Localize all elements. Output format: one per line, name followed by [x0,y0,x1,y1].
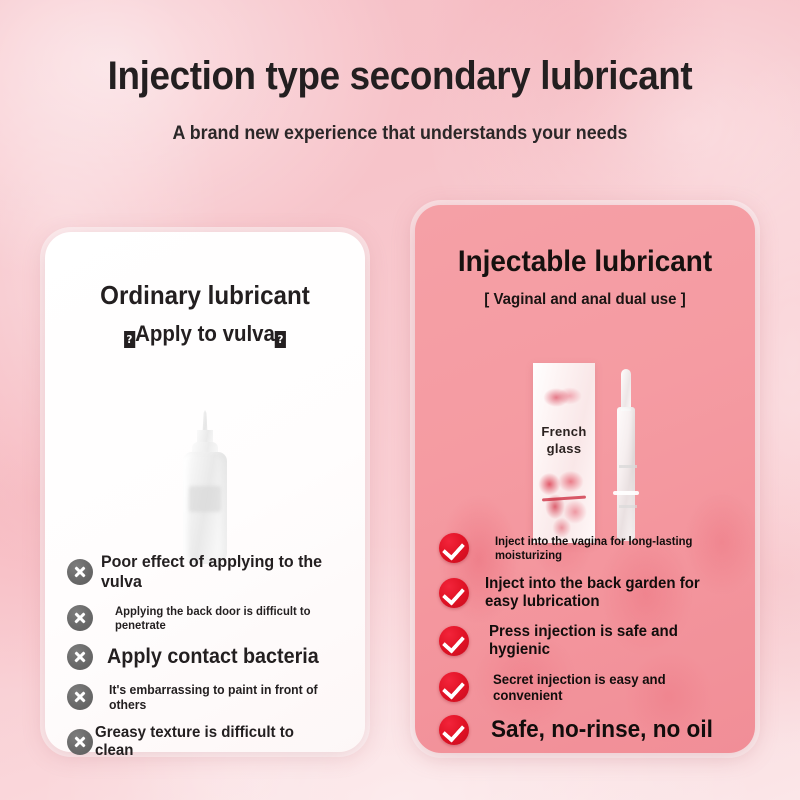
check-mark-icon [439,533,469,563]
ordinary-lubricant-card: Ordinary lubricant ?Apply to vulva? [45,232,365,752]
bottle-body [183,452,227,564]
rose-graphic-bottom [536,471,592,537]
missing-glyph-left-icon: ? [124,331,135,348]
bottle-label [189,486,221,512]
list-item-label: Secret injection is easy and convenient [493,671,720,703]
list-item-label: Inject into the vagina for long-lasting … [495,534,721,562]
x-mark-icon [67,605,93,631]
missing-glyph-right-icon: ? [275,331,286,348]
poster-header: Injection type secondary lubricant A bra… [0,0,800,145]
ordinary-lubricant-drawback-list: Poor effect of applying to the vulva App… [67,552,347,772]
injectable-lubricant-benefit-list: Inject into the vagina for long-lasting … [439,533,735,753]
sachet-brand-line-2: glass [533,440,595,457]
list-item: Press injection is safe and hygienic [439,623,735,659]
syringe-tip [621,369,631,411]
list-item-label: Applying the back door is difficult to p… [115,604,333,632]
list-item-label: Greasy texture is difficult to clean [95,724,332,760]
ordinary-lubricant-subheading-text: Apply to vulva [135,321,275,346]
injectable-lubricant-subheading: [ Vaginal and anal dual use ] [425,291,745,309]
ordinary-lubricant-product-image [45,412,365,572]
check-mark-icon [439,626,469,656]
list-item: It's embarrassing to paint in front of o… [67,682,347,712]
syringe-flange [613,491,639,495]
injectable-lubricant-card: Injectable lubricant [ Vaginal and anal … [415,205,755,753]
list-item-label: Inject into the back garden for easy lub… [485,575,720,611]
check-mark-icon [439,672,469,702]
list-item-label: Press injection is safe and hygienic [489,623,720,659]
list-item-label: Poor effect of applying to the vulva [101,552,332,592]
lubricant-bottle-icon [183,412,227,564]
list-item-label: Apply contact bacteria [107,645,319,669]
list-item-label: Safe, no-rinse, no oil [491,716,713,744]
list-item: Safe, no-rinse, no oil [439,715,735,745]
poster-canvas: Injection type secondary lubricant A bra… [0,0,800,800]
list-item: Greasy texture is difficult to clean [67,724,347,760]
syringe-ring [619,465,637,468]
lubricant-sachet-icon: French glass [533,363,595,543]
sachet-brand-line-1: French [533,423,595,440]
x-mark-icon [67,644,93,670]
ordinary-lubricant-heading: Ordinary lubricant [56,280,354,311]
page-title: Injection type secondary lubricant [32,54,768,99]
list-item: Secret injection is easy and convenient [439,671,735,703]
sachet-brand-text: French glass [533,423,595,457]
list-item: Applying the back door is difficult to p… [67,604,347,632]
syringe-applicator-icon [615,369,637,541]
injectable-lubricant-heading: Injectable lubricant [427,245,743,279]
syringe-ring [619,505,637,508]
x-mark-icon [67,684,93,710]
check-mark-icon [439,715,469,745]
list-item: Poor effect of applying to the vulva [67,552,347,592]
list-item-label: It's embarrassing to paint in front of o… [109,682,333,712]
list-item: Apply contact bacteria [67,644,347,670]
x-mark-icon [67,559,93,585]
rose-graphic-top [542,385,584,411]
syringe-barrel [617,407,635,541]
ordinary-lubricant-subheading: ?Apply to vulva? [56,321,354,348]
list-item: Inject into the back garden for easy lub… [439,575,735,611]
list-item: Inject into the vagina for long-lasting … [439,533,735,563]
x-mark-icon [67,729,93,755]
injectable-lubricant-product-image: French glass [415,363,755,553]
check-mark-icon [439,578,469,608]
page-subtitle: A brand new experience that understands … [24,123,776,145]
